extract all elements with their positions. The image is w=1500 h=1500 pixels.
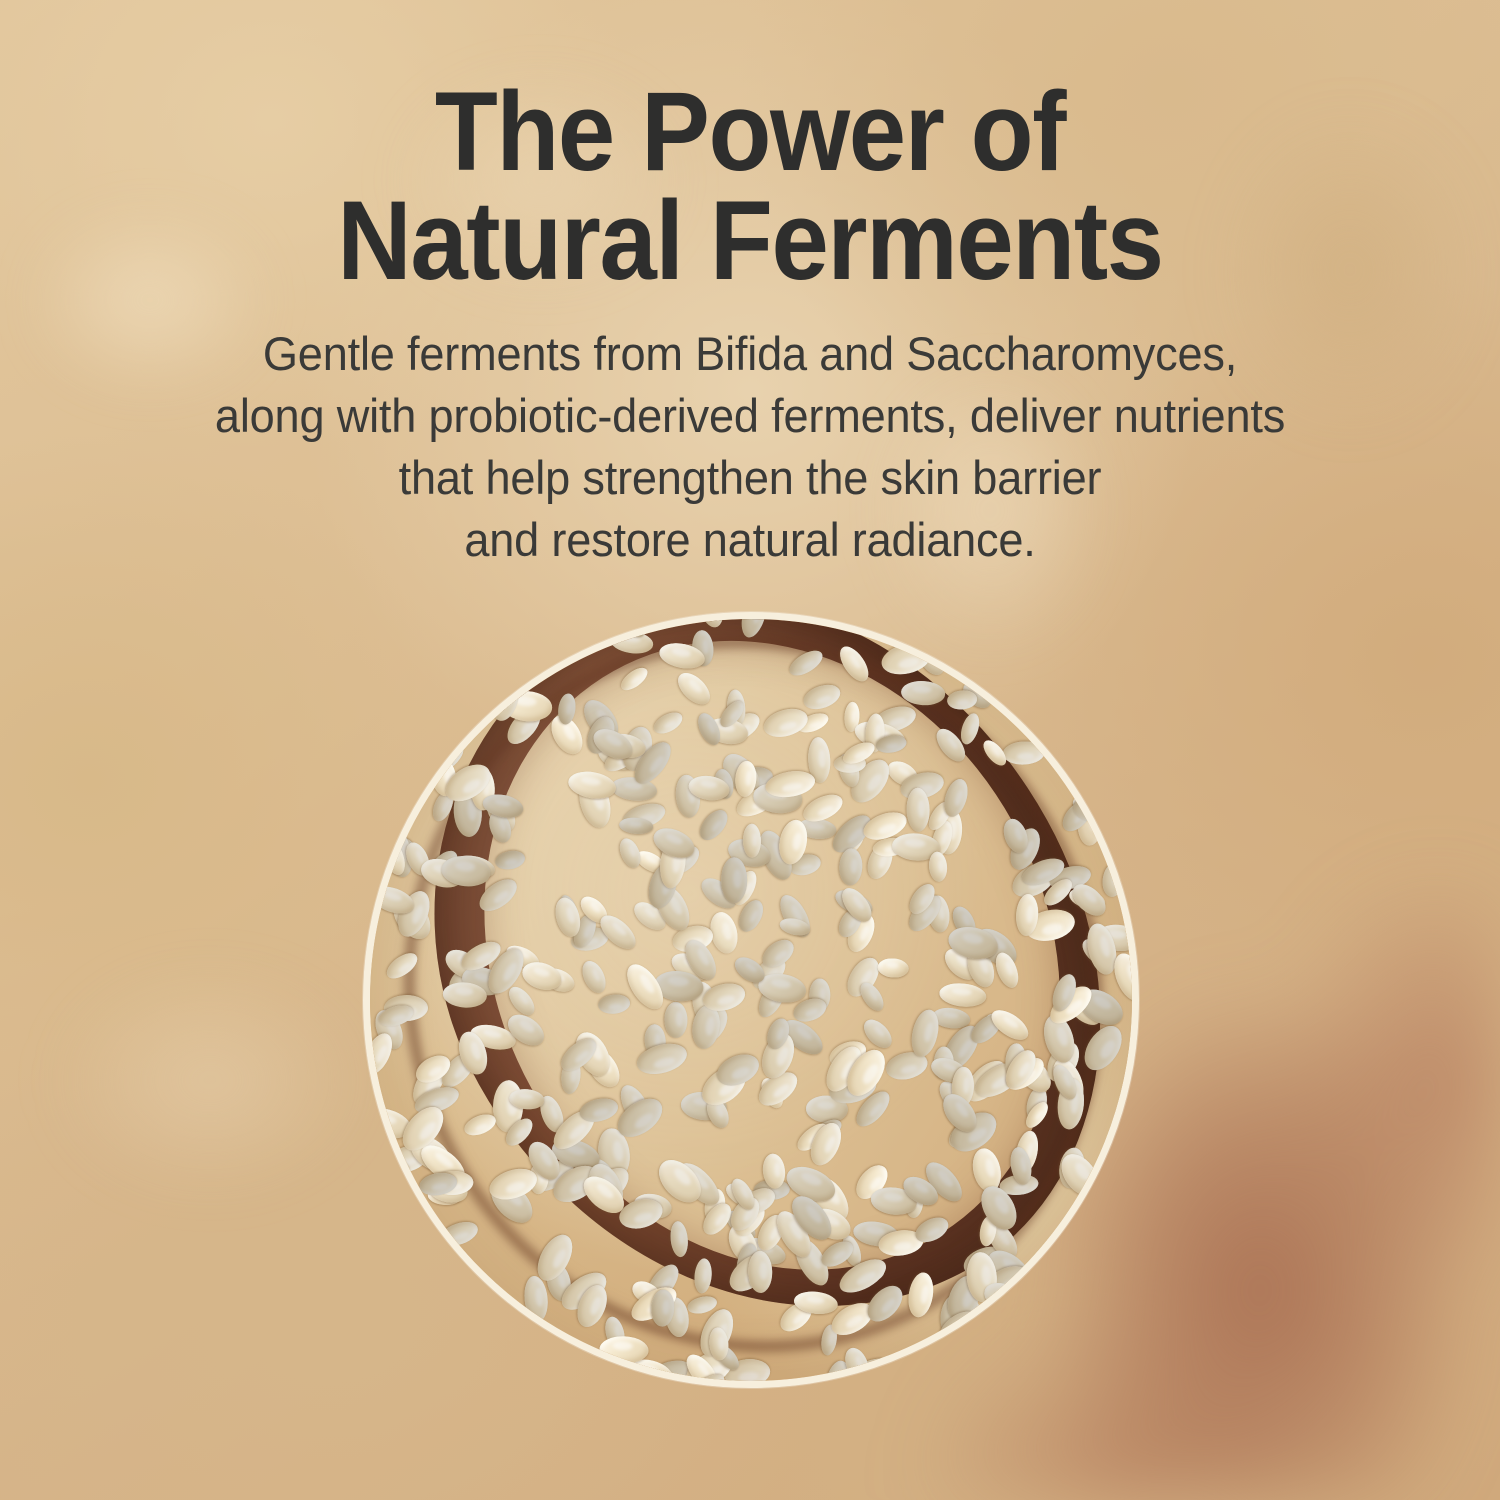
rice-grain <box>672 667 716 711</box>
rice-grain <box>721 857 747 903</box>
rice-grain <box>578 957 611 996</box>
rice-grain <box>835 641 874 685</box>
rice-grain <box>370 670 414 718</box>
body-copy: Gentle ferments from Bifida and Saccharo… <box>30 323 1470 571</box>
rice-grain <box>786 645 827 680</box>
rice-grain <box>946 690 978 711</box>
text-block: The Power of Natural Ferments Gentle fer… <box>0 78 1500 571</box>
rice-grain <box>597 993 631 1015</box>
rice-grain <box>696 806 733 845</box>
rice-grain <box>634 1038 690 1078</box>
rice-grain <box>382 948 421 983</box>
headline-line-2: Natural Ferments <box>60 187 1440 296</box>
rice-grain <box>906 1271 936 1319</box>
body-line-1: Gentle ferments from Bifida and Saccharo… <box>30 323 1470 385</box>
rice-grain <box>564 619 616 627</box>
rice-grain <box>425 684 472 741</box>
rice-grain <box>877 958 909 979</box>
rice-grain <box>618 817 653 836</box>
headline-line-1: The Power of <box>60 78 1440 187</box>
rice-grain <box>1022 1349 1072 1381</box>
body-line-4: and restore natural radiance. <box>30 509 1470 571</box>
rice-grain <box>742 824 760 859</box>
rice-grain <box>1077 1019 1130 1077</box>
rice-grain <box>371 1307 402 1353</box>
rice-grain <box>801 680 844 713</box>
circular-photo-medallion <box>363 612 1139 1388</box>
rice-grain <box>505 619 557 621</box>
rice-grain <box>664 1002 687 1039</box>
rice-grain <box>481 791 525 821</box>
rice-grain <box>1025 702 1069 725</box>
rice-grain <box>1002 740 1045 765</box>
rice-grain <box>906 788 930 833</box>
rice-grain <box>370 1198 373 1234</box>
rice-grain-field <box>370 619 1132 1381</box>
rice-grain <box>906 619 947 627</box>
rice-grain <box>557 692 578 725</box>
rice-grain <box>693 1257 713 1294</box>
body-line-2: along with probiotic-derived ferments, d… <box>30 385 1470 447</box>
rice-grain <box>748 1251 773 1294</box>
rice-grain <box>996 1378 1026 1381</box>
rice-grain <box>1128 1067 1132 1114</box>
rice-grain <box>839 847 863 885</box>
rice-grain <box>957 619 1004 622</box>
rice-grain <box>1117 1236 1132 1290</box>
rice-grain <box>494 848 527 872</box>
rice-grain <box>533 1369 574 1381</box>
rice-grain <box>1118 735 1132 757</box>
body-line-3: that help strengthen the skin barrier <box>30 447 1470 509</box>
infographic-canvas: The Power of Natural Ferments Gentle fer… <box>0 0 1500 1500</box>
rice-grain <box>523 1274 550 1322</box>
page-title: The Power of Natural Ferments <box>60 78 1440 295</box>
rice-grain <box>606 1369 624 1381</box>
rice-grain <box>737 619 771 640</box>
rice-grain <box>928 851 949 883</box>
rice-grain <box>566 768 617 802</box>
rice-grain <box>398 731 417 762</box>
rice-grain <box>901 680 946 706</box>
rice-grain <box>856 979 889 1016</box>
rice-grain <box>1047 737 1101 782</box>
medallion-photo <box>370 619 1132 1381</box>
rice-grain <box>958 711 983 747</box>
rice-grain <box>442 1298 463 1335</box>
rice-grain <box>695 619 727 629</box>
rice-grain <box>761 704 811 741</box>
rice-grain <box>1022 1099 1052 1132</box>
rice-grain <box>392 1285 431 1328</box>
rice-grain <box>479 619 517 636</box>
rice-grain <box>650 708 685 738</box>
rice-grain <box>669 1220 690 1257</box>
rice-grain <box>615 836 644 871</box>
rice-grain <box>617 663 651 694</box>
rice-grain <box>1100 862 1126 899</box>
